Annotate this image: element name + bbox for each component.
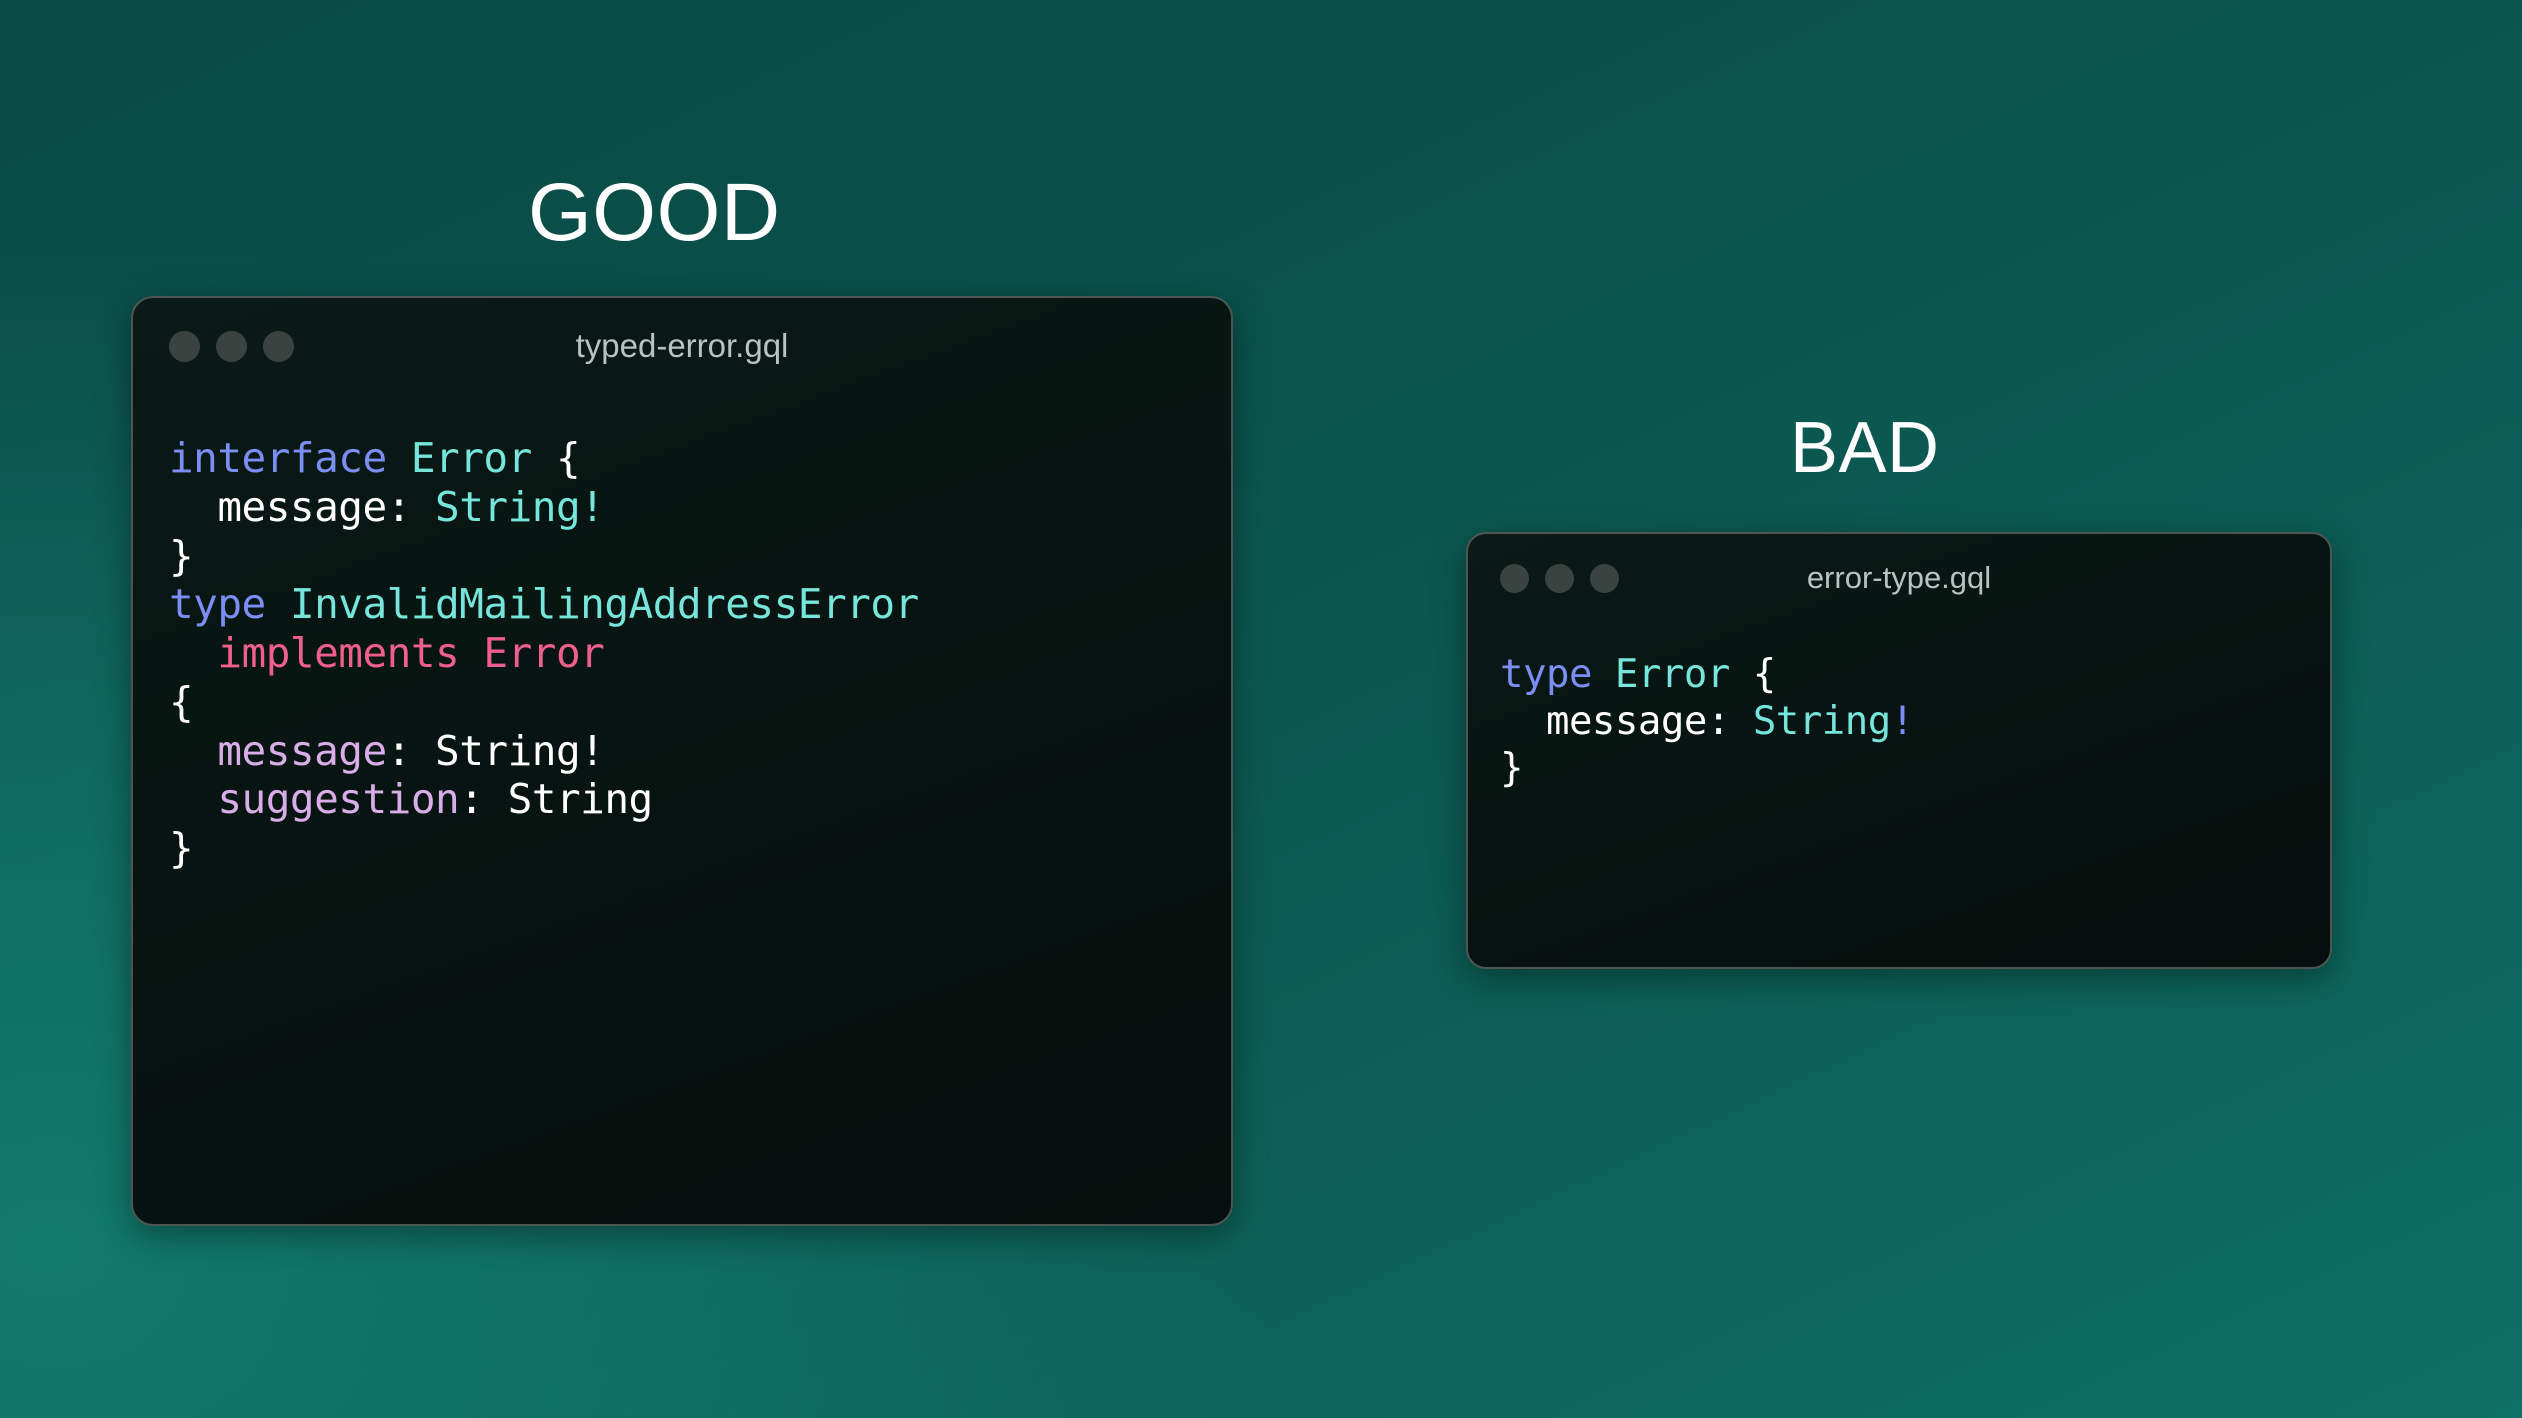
close-dot-icon[interactable] [169, 331, 200, 362]
code-line: message: String! [169, 727, 604, 775]
minimize-dot-icon[interactable] [1545, 564, 1574, 593]
maximize-dot-icon[interactable] [1590, 564, 1619, 593]
code-token: implements Error [217, 629, 604, 677]
code-line: type Error { [1500, 652, 1776, 697]
code-token: String! [435, 483, 604, 531]
code-line: } [169, 824, 193, 872]
code-token [169, 483, 217, 531]
code-token: String [508, 775, 653, 823]
code-token: } [1500, 746, 1523, 791]
window-titlebar-good: typed-error.gql [133, 298, 1231, 394]
code-token: interface [169, 434, 387, 482]
code-token: type [169, 580, 266, 628]
heading-bad: BAD [1790, 412, 1940, 484]
code-token: message [217, 727, 386, 775]
code-token: Error [411, 434, 532, 482]
traffic-lights-good [169, 331, 294, 362]
close-dot-icon[interactable] [1500, 564, 1529, 593]
code-line: message: String! [169, 483, 604, 531]
code-token: } [169, 532, 193, 580]
code-line: message: String! [1500, 699, 1914, 744]
slide-root: { "background": { "base_color": "#0a4a44… [0, 0, 2522, 1418]
code-token [169, 775, 217, 823]
window-title-good: typed-error.gql [133, 327, 1231, 365]
code-block-bad: type Error { message: String! } [1468, 622, 2330, 792]
code-line: implements Error [169, 629, 604, 677]
code-line: } [1500, 746, 1523, 791]
code-token [532, 434, 556, 482]
code-token: } [169, 824, 193, 872]
code-token [1500, 699, 1546, 744]
code-token: type [1500, 652, 1592, 697]
code-token: String [1753, 699, 1891, 744]
code-window-bad: error-type.gql type Error { message: Str… [1466, 532, 2332, 969]
code-token [1592, 652, 1615, 697]
code-line: interface Error { [169, 434, 580, 482]
code-token: suggestion [217, 775, 459, 823]
code-block-good: interface Error { message: String! } typ… [133, 394, 1231, 873]
code-token: : [387, 483, 435, 531]
code-token [1730, 652, 1753, 697]
code-token: : [459, 775, 507, 823]
code-token: message [1546, 699, 1707, 744]
code-token [266, 580, 290, 628]
code-token [169, 727, 217, 775]
heading-good: GOOD [528, 172, 781, 254]
code-line: type InvalidMailingAddressError [169, 580, 919, 628]
code-token: { [169, 678, 193, 726]
code-line: { [169, 678, 193, 726]
window-titlebar-bad: error-type.gql [1468, 534, 2330, 622]
code-token: : [1707, 699, 1753, 744]
code-token: { [1753, 652, 1776, 697]
code-token: String! [435, 727, 604, 775]
code-token [387, 434, 411, 482]
code-token: Error [1615, 652, 1730, 697]
code-token: ! [1891, 699, 1914, 744]
code-token: InvalidMailingAddressError [290, 580, 919, 628]
traffic-lights-bad [1500, 564, 1619, 593]
code-token: { [556, 434, 580, 482]
code-token: : [387, 727, 435, 775]
code-token: message [217, 483, 386, 531]
code-line: } [169, 532, 193, 580]
code-window-good: typed-error.gql interface Error { messag… [131, 296, 1233, 1226]
maximize-dot-icon[interactable] [263, 331, 294, 362]
code-token [169, 629, 217, 677]
code-line: suggestion: String [169, 775, 653, 823]
minimize-dot-icon[interactable] [216, 331, 247, 362]
